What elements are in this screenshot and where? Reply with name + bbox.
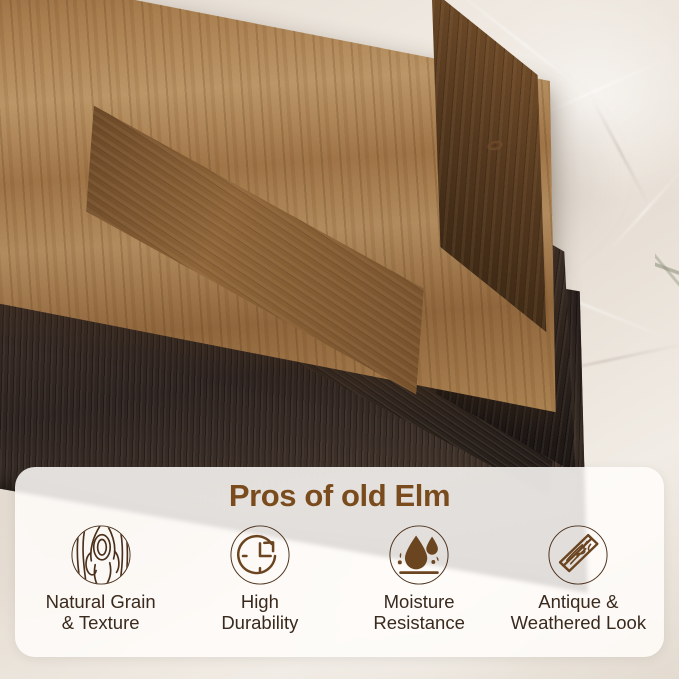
pro-label-high-durability: High Durability (221, 592, 298, 634)
wood-plank-icon (547, 524, 609, 586)
clock-rotate-icon (229, 524, 291, 586)
pro-item-high-durability[interactable]: High Durability (180, 524, 339, 634)
pros-card: Pros of old Elm (15, 467, 664, 657)
card-title: Pros of old Elm (15, 467, 664, 514)
wood-grain-icon (70, 524, 132, 586)
pros-list: Natural Grain & Texture High Durability (15, 514, 664, 634)
pro-item-antique-weathered[interactable]: Antique & Weathered Look (499, 524, 658, 634)
product-infographic: Pros of old Elm (0, 0, 679, 679)
dried-twig (655, 250, 679, 294)
pro-item-natural-grain[interactable]: Natural Grain & Texture (21, 524, 180, 634)
pro-label-antique-weathered: Antique & Weathered Look (511, 592, 646, 634)
pro-label-moisture-resistance: Moisture Resistance (373, 592, 465, 634)
water-droplet-icon (388, 524, 450, 586)
pro-item-moisture-resistance[interactable]: Moisture Resistance (340, 524, 499, 634)
pro-label-natural-grain: Natural Grain & Texture (46, 592, 156, 634)
